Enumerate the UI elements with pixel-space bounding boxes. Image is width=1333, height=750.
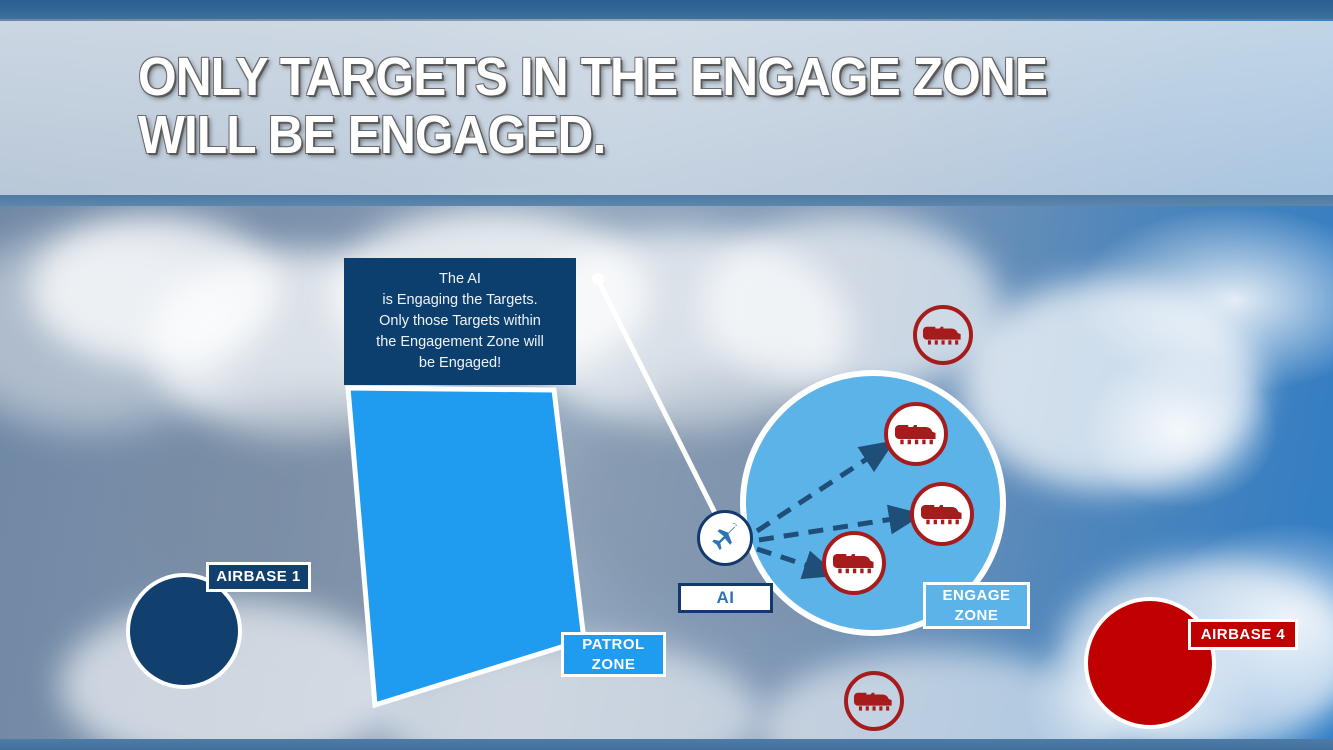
target-marker-engaged[interactable] [910,482,974,546]
target-marker-engaged[interactable] [884,402,948,466]
target-marker-engaged[interactable] [822,531,886,595]
slide-canvas: ONLY TARGETS IN THE ENGAGE ZONE WILL BE … [0,0,1333,750]
patrol-zone-label[interactable]: PATROL ZONE [561,632,666,677]
tank-icon [923,323,963,348]
ai-aircraft-marker[interactable] [697,510,753,566]
airbase-1-label[interactable]: AIRBASE 1 [206,562,311,592]
target-marker-unengaged[interactable] [913,305,973,365]
callout-box: The AI is Engaging the Targets. Only tho… [344,258,576,385]
map-overlay [0,0,1333,750]
callout-leader-line [598,280,722,527]
airbase-4-label[interactable]: AIRBASE 4 [1188,619,1298,650]
fighter-jet-icon [707,520,744,557]
engage-zone-label[interactable]: ENGAGE ZONE [923,582,1030,629]
tank-icon [921,501,964,528]
tank-icon [854,689,894,714]
target-marker-unengaged[interactable] [844,671,904,731]
tank-icon [833,550,876,577]
tank-icon [895,421,938,448]
leader-line-dot [592,273,604,285]
ai-label[interactable]: AI [678,583,773,613]
patrol-zone-polygon[interactable] [348,388,584,705]
